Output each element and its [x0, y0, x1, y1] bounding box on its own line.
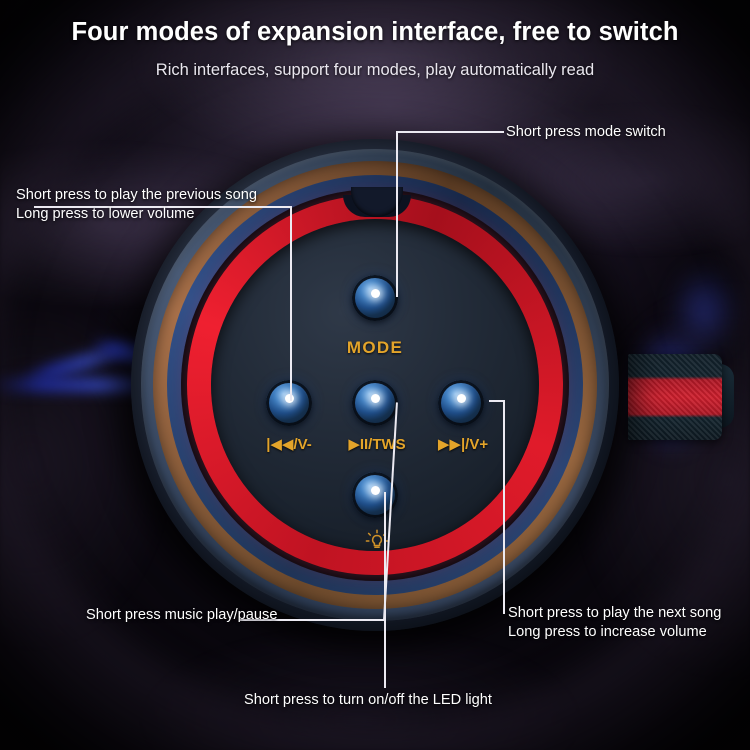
leader-line-mode-vertical	[396, 131, 398, 297]
callout-mode: Short press mode switch	[506, 123, 666, 142]
previous-track-button[interactable]	[266, 380, 312, 426]
page-title: Four modes of expansion interface, free …	[0, 0, 750, 47]
callout-play-pause-line1: Short press music play/pause	[86, 606, 277, 625]
leader-line-next-vertical	[503, 400, 505, 614]
leader-line-prev-vertical	[290, 206, 292, 401]
callout-next-line1: Short press to play the next song	[508, 604, 721, 623]
leader-line-led-vertical	[384, 492, 386, 688]
callout-led-line1: Short press to turn on/off the LED light	[244, 691, 492, 710]
mode-button-label: MODE	[315, 338, 435, 358]
callout-previous-line2: Long press to lower volume	[16, 205, 257, 224]
leader-line-mode-horizontal	[396, 131, 504, 133]
callout-next: Short press to play the next song Long p…	[508, 604, 721, 642]
callout-led: Short press to turn on/off the LED light	[244, 691, 492, 710]
play-pause-tws-button[interactable]	[352, 380, 398, 426]
callout-previous: Short press to play the previous song Lo…	[16, 186, 257, 224]
page-subtitle: Rich interfaces, support four modes, pla…	[0, 47, 750, 80]
next-button-label: ▶▶|/V+	[398, 435, 528, 453]
callout-next-line2: Long press to increase volume	[508, 623, 721, 642]
mode-button[interactable]	[352, 275, 398, 321]
callout-previous-line1: Short press to play the previous song	[16, 186, 257, 205]
callout-mode-line1: Short press mode switch	[506, 123, 666, 142]
strap-webbing	[628, 354, 722, 440]
wrist-strap	[628, 354, 722, 440]
callout-play-pause: Short press music play/pause	[86, 606, 277, 625]
header: Four modes of expansion interface, free …	[0, 0, 750, 80]
leader-line-next-horizontal	[489, 400, 505, 402]
next-track-button[interactable]	[438, 380, 484, 426]
led-bulb-icon	[335, 528, 419, 559]
infographic-canvas: Four modes of expansion interface, free …	[0, 0, 750, 750]
